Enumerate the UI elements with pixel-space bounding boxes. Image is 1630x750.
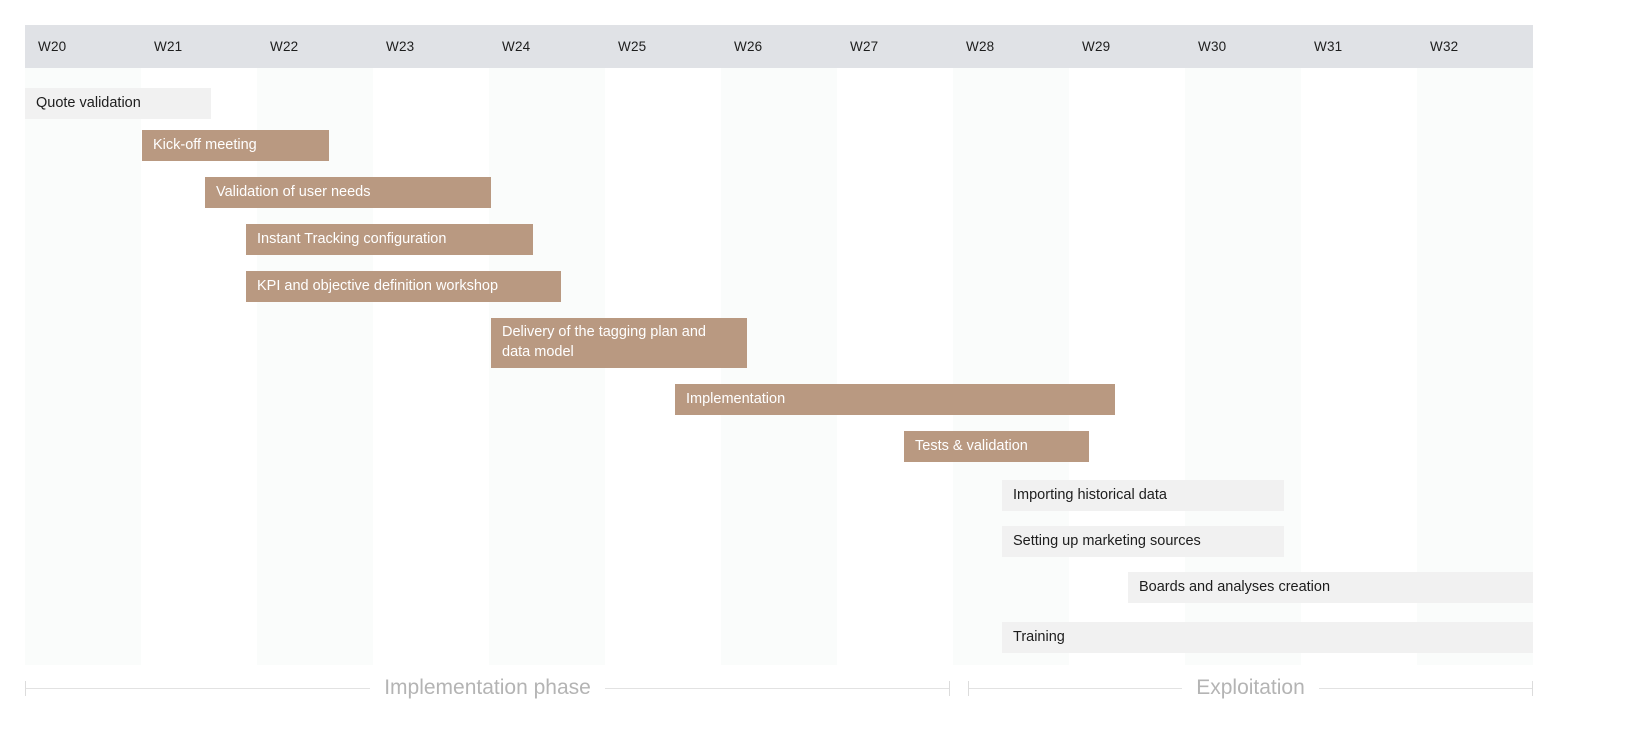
task-bar-label: Boards and analyses creation xyxy=(1139,578,1330,598)
task-bar-label: Quote validation xyxy=(36,94,141,114)
task-bar-label: Implementation xyxy=(686,390,785,410)
task-bar-label: Setting up marketing sources xyxy=(1013,532,1201,552)
gantt-chart: W20W21W22W23W24W25W26W27W28W29W30W31W32 … xyxy=(0,0,1630,750)
task-bar[interactable]: Instant Tracking configuration xyxy=(246,224,533,255)
task-bar-label: Tests & validation xyxy=(915,437,1028,457)
task-bar[interactable]: Setting up marketing sources xyxy=(1002,526,1284,557)
task-bar-label: Delivery of the tagging plan and data mo… xyxy=(502,323,706,362)
task-bar-label: Training xyxy=(1013,628,1065,648)
phase-bracket: Implementation phase xyxy=(25,668,950,708)
task-bar[interactable]: Importing historical data xyxy=(1002,480,1284,511)
phase-cap-right-icon xyxy=(1532,681,1533,696)
phase-brackets: Implementation phaseExploitation xyxy=(0,668,1630,716)
phase-line-left xyxy=(26,688,370,689)
task-bar[interactable]: Quote validation xyxy=(25,88,211,119)
task-bars-layer: Quote validationKick-off meetingValidati… xyxy=(0,0,1630,665)
phase-bracket: Exploitation xyxy=(968,668,1533,708)
task-bar-label: KPI and objective definition workshop xyxy=(257,277,498,297)
task-bar-label: Importing historical data xyxy=(1013,486,1167,506)
phase-label: Implementation phase xyxy=(370,676,605,700)
phase-line-right xyxy=(605,688,949,689)
task-bar[interactable]: Delivery of the tagging plan and data mo… xyxy=(491,318,747,368)
task-bar[interactable]: Tests & validation xyxy=(904,431,1089,462)
task-bar[interactable]: KPI and objective definition workshop xyxy=(246,271,561,302)
task-bar[interactable]: Validation of user needs xyxy=(205,177,491,208)
task-bar[interactable]: Implementation xyxy=(675,384,1115,415)
task-bar-label: Validation of user needs xyxy=(216,183,371,203)
phase-line-left xyxy=(969,688,1182,689)
phase-line-right xyxy=(1319,688,1532,689)
task-bar[interactable]: Boards and analyses creation xyxy=(1128,572,1533,603)
phase-label: Exploitation xyxy=(1182,676,1319,700)
task-bar-label: Kick-off meeting xyxy=(153,136,257,156)
task-bar-label: Instant Tracking configuration xyxy=(257,230,446,250)
phase-cap-right-icon xyxy=(949,681,950,696)
task-bar[interactable]: Training xyxy=(1002,622,1533,653)
task-bar[interactable]: Kick-off meeting xyxy=(142,130,329,161)
